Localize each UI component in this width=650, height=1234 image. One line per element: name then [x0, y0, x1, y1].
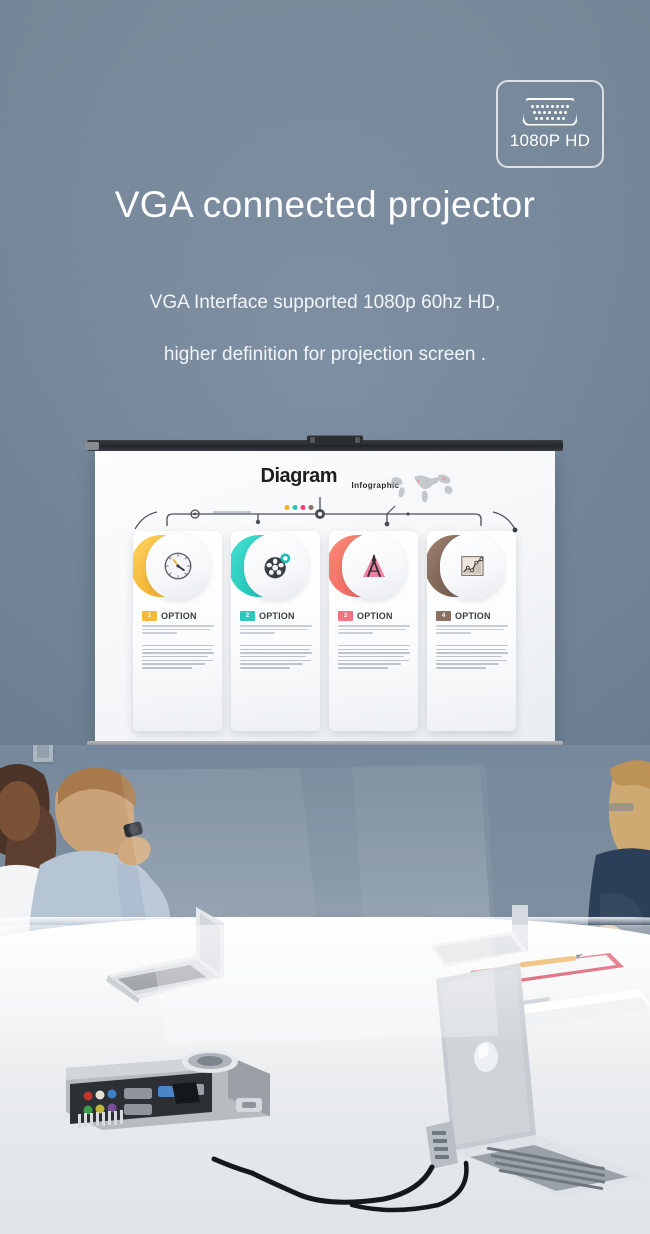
card-word-2: OPTION	[259, 611, 295, 621]
card-lorem-long-4	[436, 645, 508, 669]
option-card-4[interactable]: 4 OPTION	[427, 531, 516, 731]
card-number-1: 1	[142, 611, 157, 621]
subtitle-line-2: higher definition for projection screen …	[0, 329, 650, 381]
card-lorem-long-3	[338, 645, 410, 669]
card-body-4: 4 OPTION	[436, 611, 508, 671]
option-cards: 1 OPTION	[133, 531, 519, 731]
projector	[60, 1040, 275, 1135]
card-body-1: 1 OPTION	[142, 611, 214, 671]
card-icon-bubble-3	[342, 533, 406, 599]
screen-canvas: Diagram Infographic	[95, 451, 555, 741]
card-lorem-short-2	[240, 625, 312, 634]
compass-icon	[357, 549, 391, 583]
projection-screen: Diagram Infographic	[95, 440, 555, 764]
card-lorem-short-1	[142, 625, 214, 634]
card-icon-bubble-2	[244, 533, 308, 599]
card-icon-bubble-4	[440, 533, 504, 599]
card-word-4: OPTION	[455, 611, 491, 621]
screen-center-bracket	[307, 435, 363, 445]
card-body-2: 2 OPTION	[240, 611, 312, 671]
page-title: VGA connected projector	[0, 184, 650, 226]
conference-room-scene	[0, 745, 650, 1234]
area-chart-icon	[455, 549, 489, 583]
clock-icon	[161, 549, 195, 583]
resolution-badge: 1080P HD	[496, 80, 604, 168]
card-top-3	[329, 531, 418, 605]
product-marketing-image: 1080P HD VGA connected projector VGA Int…	[0, 0, 650, 1234]
infographic: Diagram Infographic	[95, 451, 555, 741]
card-lorem-long-2	[240, 645, 312, 669]
screen-mount-end	[85, 442, 99, 450]
card-word-3: OPTION	[357, 611, 393, 621]
card-top-1	[133, 531, 222, 605]
option-card-2[interactable]: 2 OPTION	[231, 531, 320, 731]
vga-cable	[214, 1159, 466, 1210]
card-body-3: 3 OPTION	[338, 611, 410, 671]
laptop-left	[106, 907, 224, 1003]
subtitle-line-1: VGA Interface supported 1080p 60hz HD,	[0, 277, 650, 329]
card-number-4: 4	[436, 611, 451, 621]
card-top-2	[231, 531, 320, 605]
card-lorem-long-1	[142, 645, 214, 669]
card-top-4	[427, 531, 516, 605]
card-icon-bubble-1	[146, 533, 210, 599]
laptop-back-right	[430, 905, 528, 967]
card-word-1: OPTION	[161, 611, 197, 621]
card-lorem-short-4	[436, 625, 508, 634]
vga-connector-icon	[522, 98, 578, 126]
badge-label: 1080P HD	[510, 131, 591, 151]
card-number-2: 2	[240, 611, 255, 621]
option-card-1[interactable]: 1 OPTION	[133, 531, 222, 731]
page-subtitle: VGA Interface supported 1080p 60hz HD, h…	[0, 277, 650, 381]
card-number-3: 3	[338, 611, 353, 621]
option-card-3[interactable]: 3 OPTION	[329, 531, 418, 731]
card-lorem-short-3	[338, 625, 410, 634]
film-reel-icon	[259, 549, 293, 583]
